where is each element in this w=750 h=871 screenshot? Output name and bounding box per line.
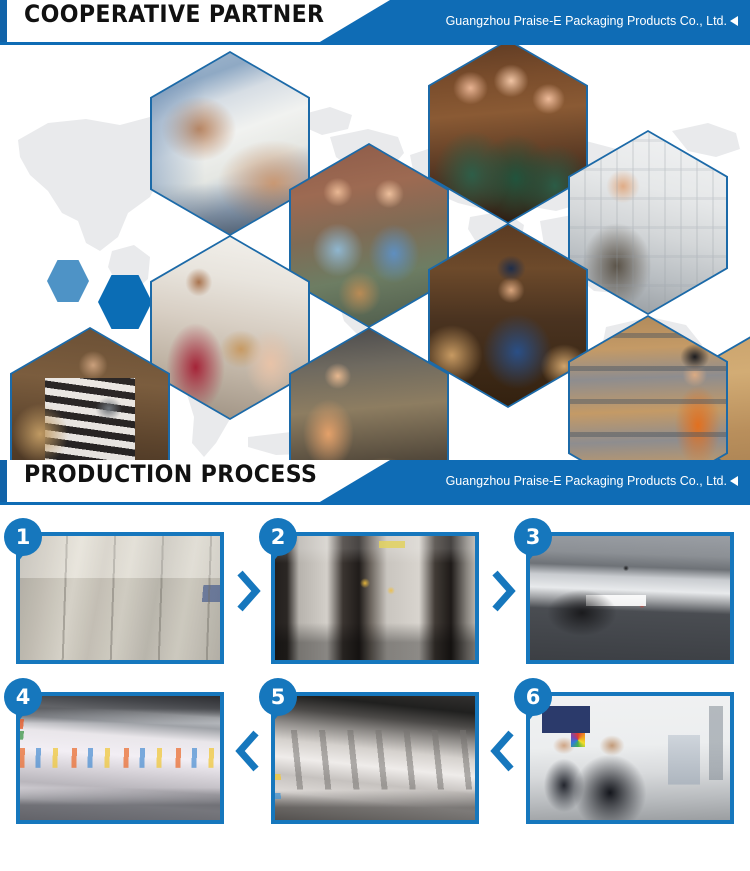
hex-warehouse-tablet-inner [12,329,168,460]
process-step-5-badge: 5 [259,678,299,718]
hex-packing-loading-inner [291,329,447,460]
hex-shop-owners-team[interactable] [428,45,588,224]
process-step-3[interactable]: 3 [526,524,734,658]
section-accent-bar-2 [0,460,7,502]
section-header-production-process: PRODUCTION PROCESS Guangzhou Praise-E Pa… [0,460,750,502]
process-row-1: 1 2 [0,511,750,671]
process-arrow-3 [233,728,263,774]
hex-handshake-inner [152,53,308,234]
process-arrow-1 [233,568,263,614]
process-row-2: 4 5 [0,671,750,831]
process-step-2-number: 2 [259,518,297,556]
deco-hexagon-light [47,260,89,302]
hex-businessman-office[interactable] [568,130,728,315]
hex-courier-laptop-inner [430,225,586,406]
process-step-6-colorwheel [530,696,730,820]
process-step-1-detail [20,536,220,660]
hex-businessman-office-inner [570,132,726,313]
process-step-5-number: 5 [259,678,297,716]
process-step-1-frame [16,532,224,664]
process-step-2-detail [275,536,475,660]
process-step-1[interactable]: 1 [16,524,224,658]
hex-businessman-office-shelves [570,132,726,313]
hex-red-dress-parcel[interactable] [150,235,310,420]
process-step-3-badge: 3 [514,518,554,558]
chevron-left-icon-2 [490,729,516,773]
page-title-production-process: PRODUCTION PROCESS [24,460,692,488]
process-step-4-badge: 4 [4,678,44,718]
process-step-4[interactable]: 4 [16,684,224,818]
process-step-6-frame [526,692,734,824]
hex-courier-laptop[interactable] [428,223,588,408]
process-step-3-number: 3 [514,518,552,556]
process-step-6-number: 6 [514,678,552,716]
cooperative-partner-hex-gallery [0,45,750,460]
hex-shop-owners-team-inner [430,45,586,222]
process-step-4-number: 4 [4,678,42,716]
deco-hexagon-dark [98,275,152,329]
hex-women-inspect-box-inner [291,145,447,326]
hex-red-dress-parcel-photo [152,237,308,418]
triangle-left-icon-2 [730,476,738,486]
hex-shelf-picking-main[interactable] [568,315,728,460]
process-step-2[interactable]: 2 [271,524,479,658]
process-step-4-detail [20,696,220,820]
production-process-grid: 1 2 [0,505,750,839]
hex-women-inspect-box[interactable] [289,143,449,328]
chevron-right-icon [235,569,261,613]
chevron-right-icon-2 [490,569,516,613]
triangle-left-icon [730,16,738,26]
chevron-left-icon [235,729,261,773]
process-arrow-2 [488,568,518,614]
process-step-1-number: 1 [4,518,42,556]
hex-courier-laptop-photo [430,225,586,406]
process-step-5-frame [271,692,479,824]
hex-shelf-picking-main-inner [570,317,726,460]
process-step-2-frame [271,532,479,664]
process-step-4-frame [16,692,224,824]
process-step-5-detail [275,696,475,820]
hex-packing-loading[interactable] [289,327,449,460]
process-step-3-frame [526,532,734,664]
hex-handshake-overlay [152,53,308,234]
process-step-5[interactable]: 5 [271,684,479,818]
section-accent-bar [0,0,7,42]
section-header-cooperative-partner: COOPERATIVE PARTNER Guangzhou Praise-E P… [0,0,750,42]
process-step-6[interactable]: 6 [526,684,734,818]
process-step-6-badge: 6 [514,678,554,718]
process-step-1-badge: 1 [4,518,44,558]
process-step-3-detail [530,536,730,660]
hex-handshake[interactable] [150,51,310,236]
hex-warehouse-tablet-photo [12,329,168,460]
hex-red-dress-parcel-inner [152,237,308,418]
hex-warehouse-tablet[interactable] [10,327,170,460]
process-step-2-badge: 2 [259,518,299,558]
hex-women-inspect-box-photo [291,145,447,326]
hex-packing-loading-stamps [291,329,447,460]
hex-shelf-picking-main-rails [570,317,726,460]
hex-shop-owners-team-photo [430,45,586,222]
page-title-cooperative-partner: COOPERATIVE PARTNER [24,0,692,28]
process-arrow-4 [488,728,518,774]
